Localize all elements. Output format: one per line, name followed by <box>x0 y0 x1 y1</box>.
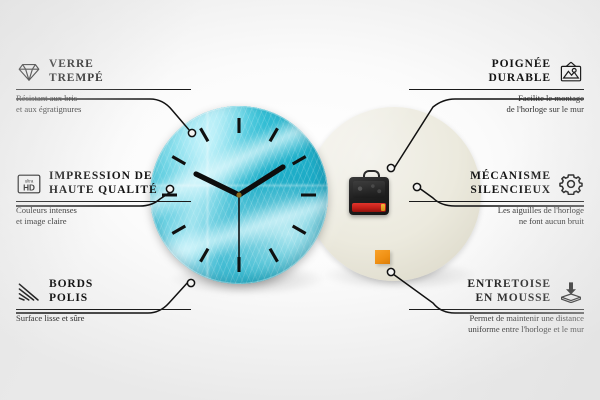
ultra-hd-icon: ultra HD <box>16 173 42 195</box>
divider <box>16 201 191 202</box>
infographic-canvas: VERRE TREMPÉ Résistant aux bris et aux é… <box>0 0 600 400</box>
feature-poignee-durable: POIGNÉE DURABLE Facilite le montage de l… <box>409 58 584 114</box>
feature-title: BORDS POLIS <box>49 278 93 305</box>
diamond-icon <box>16 61 42 83</box>
mechanism-detail <box>353 181 385 198</box>
feature-subtitle: Couleurs intenses et image claire <box>16 205 191 226</box>
battery <box>352 203 386 212</box>
feature-subtitle: Surface lisse et sûre <box>16 313 191 324</box>
divider <box>16 89 191 90</box>
feature-bords-polis: BORDS POLIS Surface lisse et sûre <box>16 278 191 324</box>
foam-spacer-icon <box>558 281 584 303</box>
divider <box>409 309 584 310</box>
foam-spacer <box>375 250 390 264</box>
polished-edges-icon <box>16 281 42 303</box>
feature-title: IMPRESSION DE HAUTE QUALITÉ <box>49 170 158 197</box>
feature-title: MÉCANISME SILENCIEUX <box>470 170 551 197</box>
divider <box>16 309 191 310</box>
feature-subtitle: Résistant aux bris et aux égratignures <box>16 93 191 114</box>
divider <box>409 201 584 202</box>
feature-subtitle: Les aiguilles de l'horloge ne font aucun… <box>409 205 584 226</box>
gear-icon <box>558 173 584 195</box>
clock-mechanism <box>349 177 389 215</box>
divider <box>409 89 584 90</box>
feature-title: ENTRETOISE EN MOUSSE <box>467 278 551 305</box>
svg-text:HD: HD <box>23 183 35 192</box>
picture-hanger-icon <box>558 61 584 83</box>
feature-verre-trempe: VERRE TREMPÉ Résistant aux bris et aux é… <box>16 58 191 114</box>
feature-title: VERRE TREMPÉ <box>49 58 104 85</box>
feature-title: POIGNÉE DURABLE <box>488 58 551 85</box>
feature-subtitle: Facilite le montage de l'horloge sur le … <box>409 93 584 114</box>
feature-mecanisme-silencieux: MÉCANISME SILENCIEUX Les aiguilles de l'… <box>409 170 584 226</box>
feature-subtitle: Permet de maintenir une distance uniform… <box>409 313 584 334</box>
feature-entretoise-en-mousse: ENTRETOISE EN MOUSSE Permet de maintenir… <box>409 278 584 334</box>
feature-impression-haute-qualite: ultra HD IMPRESSION DE HAUTE QUALITÉ Cou… <box>16 170 191 226</box>
